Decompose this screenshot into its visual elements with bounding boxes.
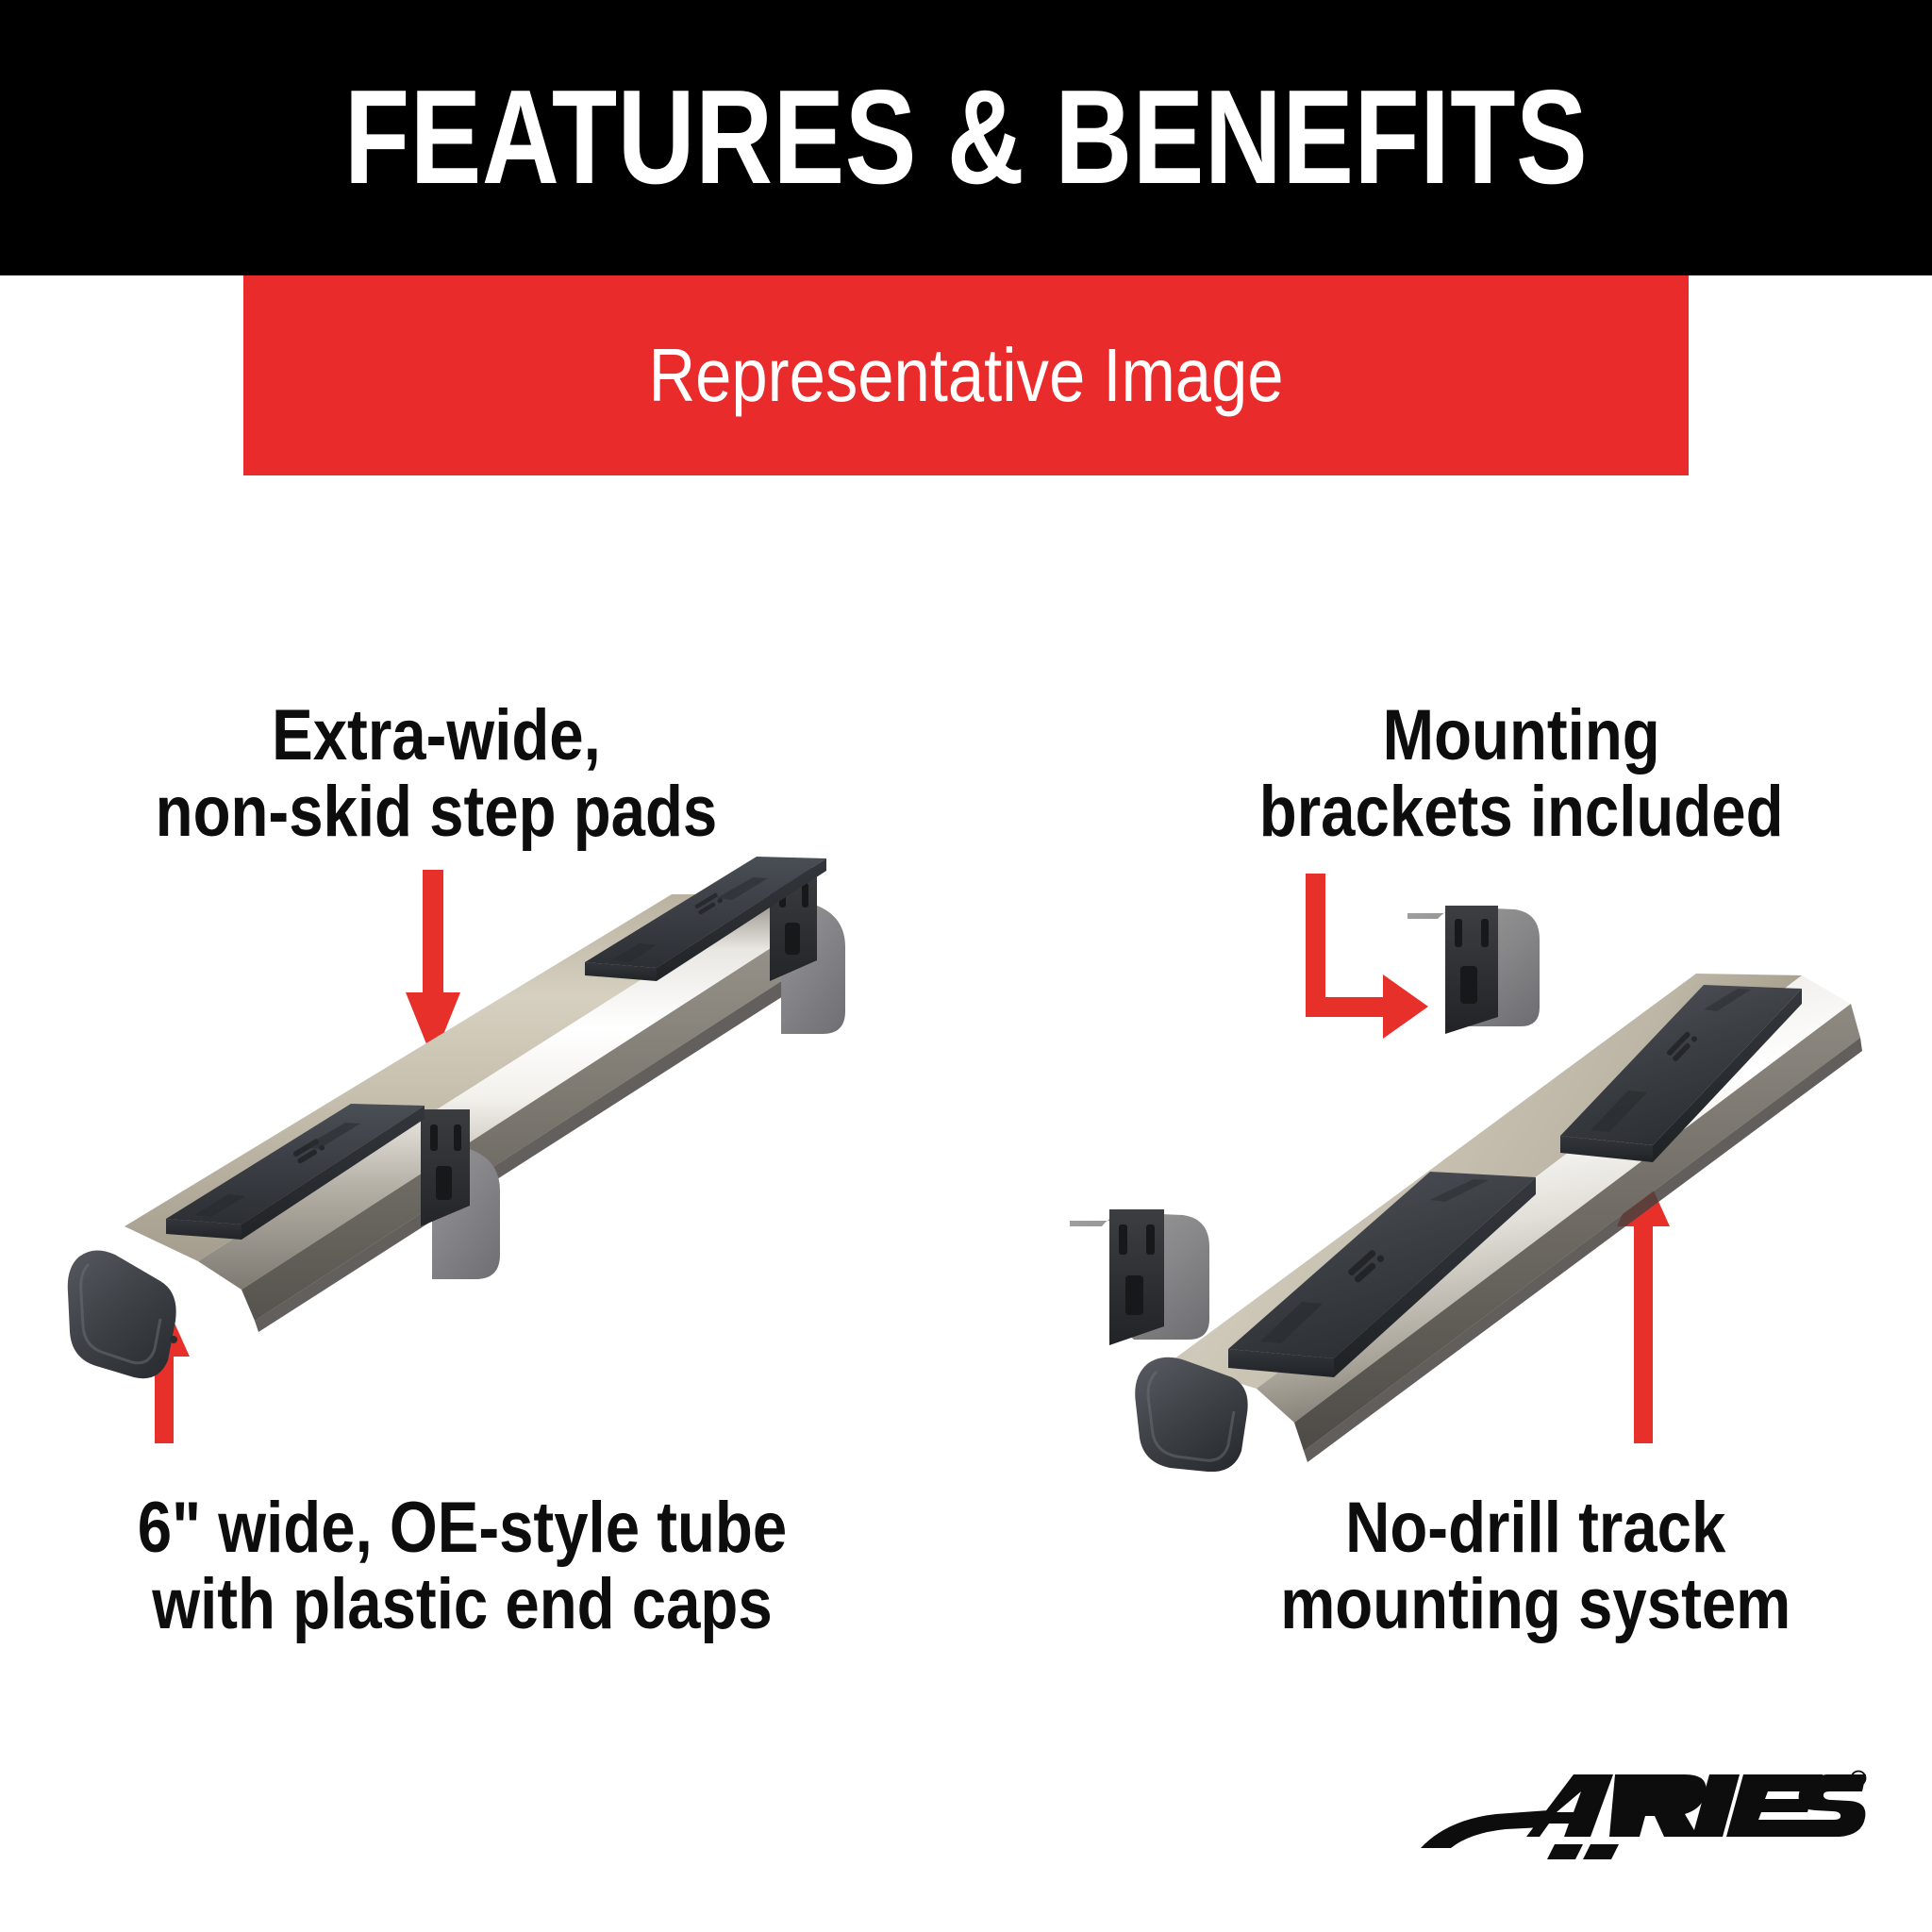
plastic-end-cap	[68, 1250, 177, 1378]
tube-chrome-highlight	[198, 894, 816, 1290]
mounting-bracket-far	[1407, 906, 1540, 1034]
callout-label-step-pads: Extra-wide, non-skid step pads	[79, 698, 793, 850]
representative-image-banner: Representative Image	[243, 275, 1689, 475]
product-image-running-board-angled-view	[1057, 906, 1924, 1472]
header-bar: FEATURES & BENEFITS	[0, 0, 1932, 275]
callout-label-track: No-drill track mounting system	[1211, 1491, 1860, 1642]
banner-label: Representative Image	[344, 275, 1588, 475]
callout-label-tube: 6" wide, OE-style tube with plastic end …	[73, 1491, 852, 1642]
svg-text:R: R	[1855, 1774, 1862, 1785]
mounting-bracket-near	[1070, 1209, 1209, 1345]
product-image-running-board-long-view	[57, 849, 1000, 1453]
page-title: FEATURES & BENEFITS	[193, 0, 1739, 275]
aries-logo: R	[1415, 1769, 1868, 1882]
callout-label-brackets: Mounting brackets included	[1185, 698, 1858, 850]
